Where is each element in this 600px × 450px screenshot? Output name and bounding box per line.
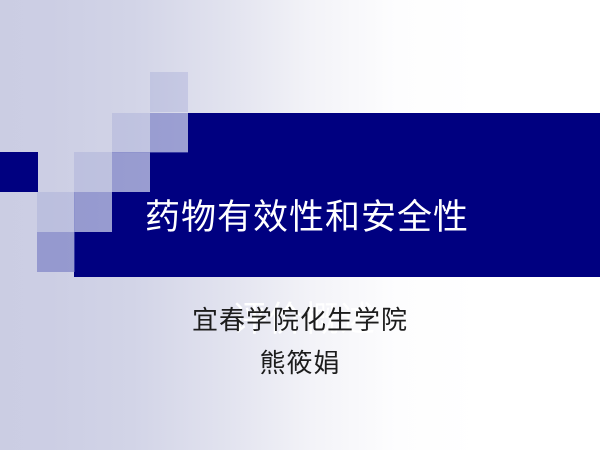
slide-subtitle: 宜春学院化生学院 熊筱娟 xyxy=(0,300,600,386)
slide-title-line-1: 药物有效性和安全性 xyxy=(0,193,600,244)
slide-subtitle-organization: 宜春学院化生学院 xyxy=(0,300,600,343)
slide-subtitle-author: 熊筱娟 xyxy=(0,343,600,386)
title-slide: 药物有效性和安全性 评价概述 宜春学院化生学院 熊筱娟 xyxy=(0,0,600,450)
mosaic-block-r1c5-light xyxy=(150,72,188,112)
